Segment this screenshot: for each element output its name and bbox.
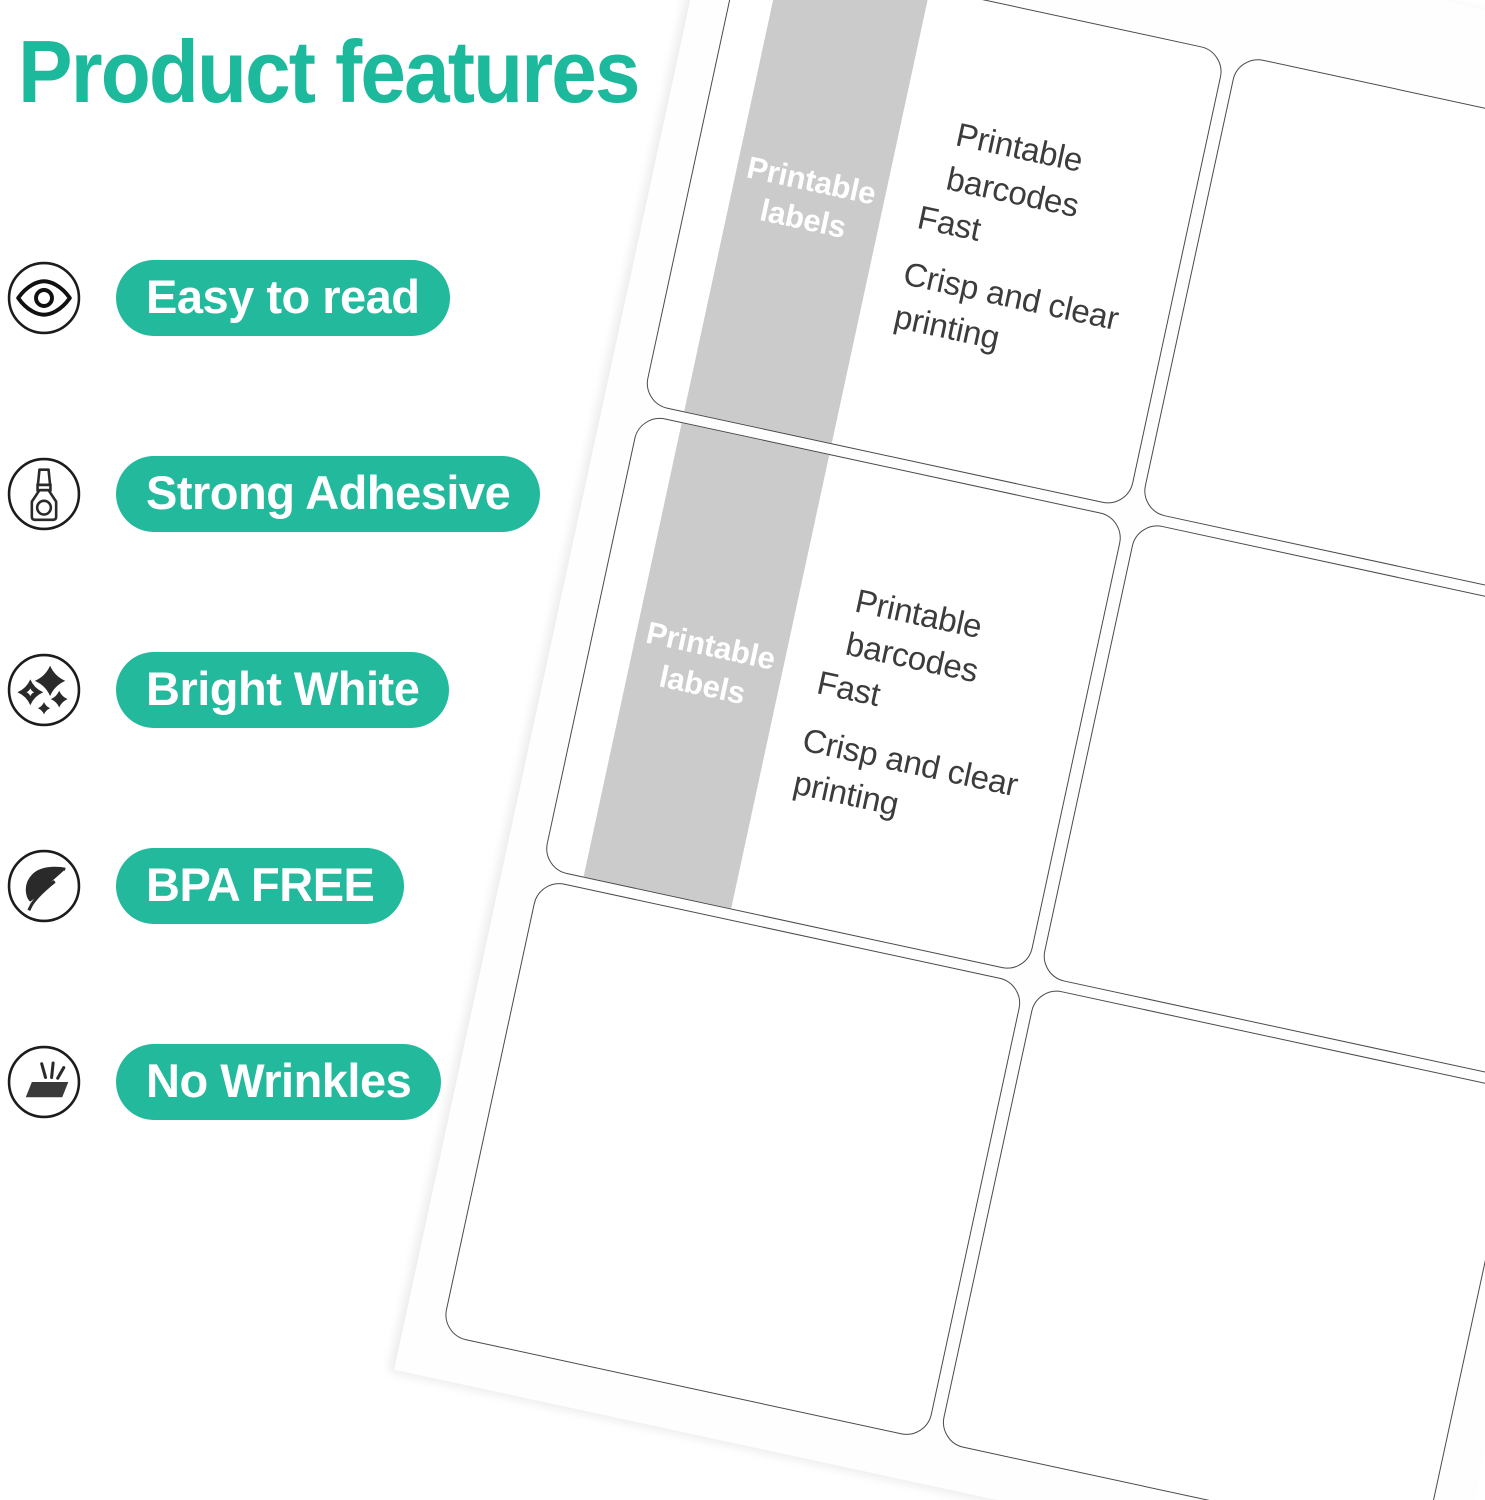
- feature-pill-label: Easy to read: [146, 273, 420, 320]
- feature-row: BPA FREE: [0, 846, 720, 926]
- label-body-text: Printable barcodesFastCrisp and clear pr…: [890, 108, 1191, 392]
- feature-pill: Easy to read: [116, 260, 450, 336]
- sparkles-icon: [6, 652, 82, 728]
- label-cell: [938, 986, 1485, 1500]
- feature-row: No Wrinkles: [0, 1042, 720, 1122]
- smooth-surface-icon: [6, 1044, 82, 1120]
- feature-row: Easy to read: [0, 258, 720, 338]
- glue-bottle-icon: [6, 456, 82, 532]
- feature-pill-label: Strong Adhesive: [146, 469, 510, 516]
- product-feature-infographic: PrintablelabelsPrintable barcodesFastCri…: [0, 0, 1485, 1500]
- feature-pill-label: BPA FREE: [146, 861, 374, 908]
- leaf-icon: [6, 848, 82, 924]
- feature-row: Bright White: [0, 650, 720, 730]
- label-strip-text: Printablelabels: [735, 147, 880, 252]
- label-body-text: Printable barcodesFastCrisp and clear pr…: [789, 574, 1090, 858]
- feature-list: Easy to readStrong AdhesiveBright WhiteB…: [0, 258, 720, 1238]
- feature-pill: Bright White: [116, 652, 449, 728]
- feature-pill-label: No Wrinkles: [146, 1057, 411, 1104]
- feature-pill: No Wrinkles: [116, 1044, 441, 1120]
- feature-pill: BPA FREE: [116, 848, 404, 924]
- feature-pill-label: Bright White: [146, 665, 419, 712]
- eye-icon: [6, 260, 82, 336]
- page-title: Product features: [18, 28, 639, 116]
- label-strip: Printablelabels: [684, 0, 930, 443]
- features-panel: Product features Easy to readStrong Adhe…: [0, 0, 720, 1500]
- feature-row: Strong Adhesive: [0, 454, 720, 534]
- feature-pill: Strong Adhesive: [116, 456, 540, 532]
